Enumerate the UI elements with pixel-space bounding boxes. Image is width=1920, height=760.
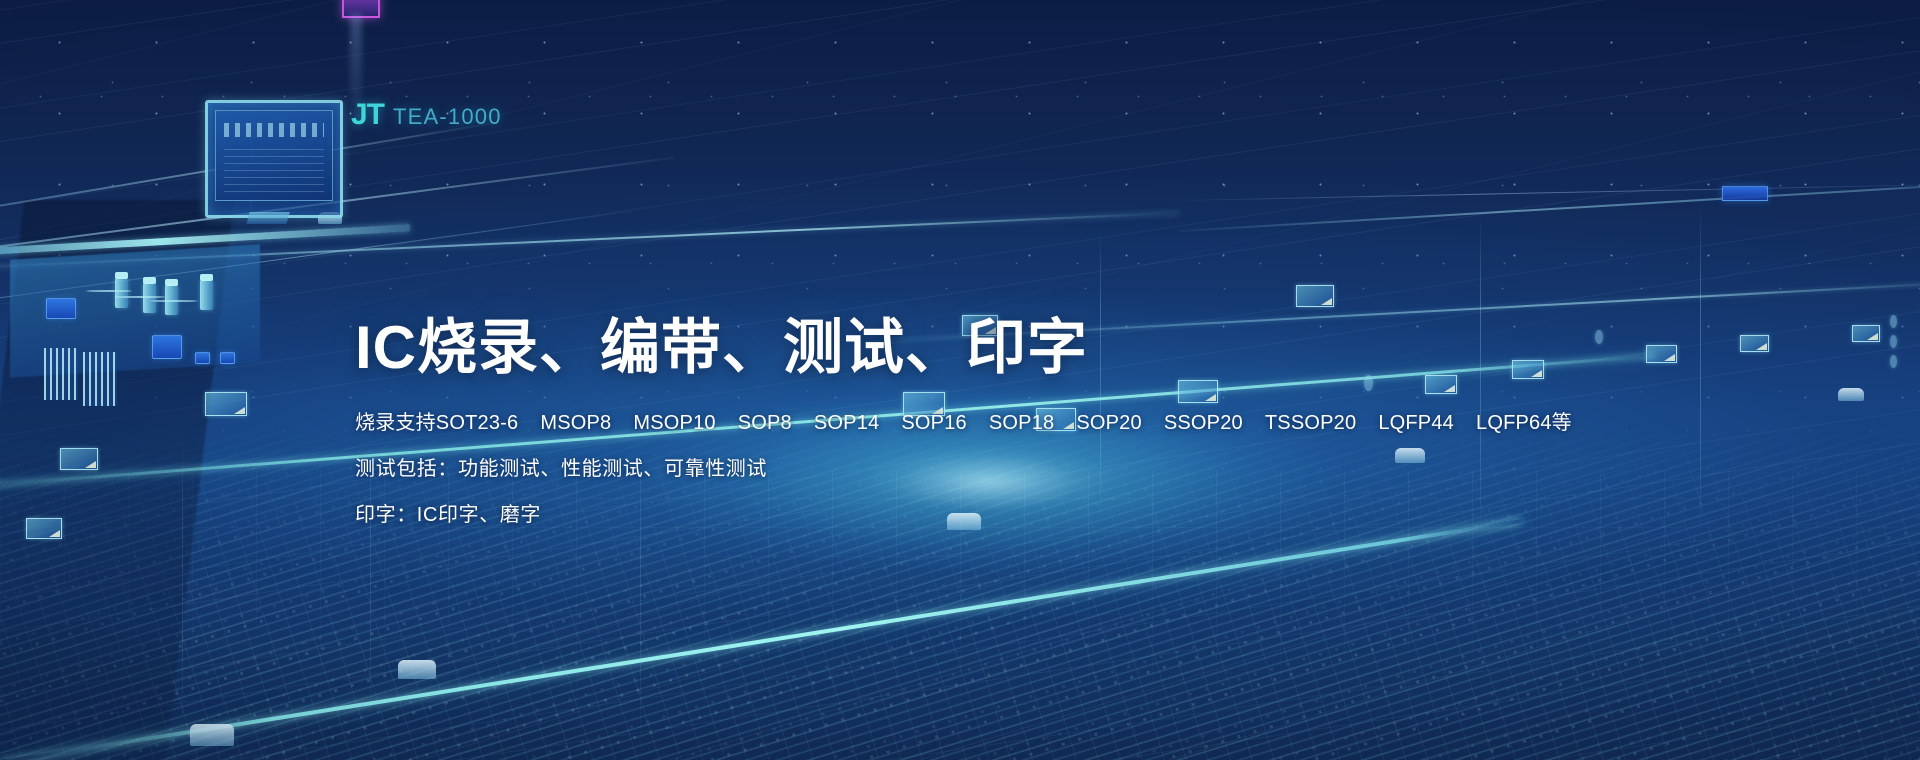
monitor-scanlines: [224, 145, 324, 192]
column-divider-3: [1700, 205, 1701, 535]
pill-sprite: [1890, 315, 1897, 328]
badge-brand-mark: JT: [351, 100, 384, 130]
rail-upper-right: [1180, 181, 1920, 232]
column-divider-5: [182, 430, 183, 750]
monitor-display-area: [215, 110, 333, 201]
chip-sprite: [1852, 325, 1880, 342]
pneumatic-cylinder-cap: [143, 277, 156, 284]
package-label: LQFP44: [1378, 412, 1454, 434]
package-label: SOP16: [901, 412, 966, 434]
package-label: SSOP20: [1164, 412, 1243, 434]
hero-copy-block: IC烧录、编带、测试、印字 烧录支持SOT23-6MSOP8MSOP10SOP8…: [355, 316, 1572, 525]
chip-sprite: [26, 518, 62, 539]
chip-sprite: [1296, 285, 1334, 307]
page-title: IC烧录、编带、测试、印字: [355, 316, 1572, 381]
burn-support-prefix: 烧录支持SOT23-6: [355, 412, 518, 434]
monitor-chip-row: [224, 123, 324, 137]
pneumatic-cylinder-cap: [115, 272, 128, 279]
pill-sprite: [1890, 335, 1897, 348]
heatsink-fins: [83, 352, 117, 406]
package-label: TSSOP20: [1265, 412, 1356, 434]
chip-sprite: [1740, 335, 1769, 352]
clamp-sprite: [1838, 388, 1864, 401]
pneumatic-cylinder-cap: [165, 279, 178, 286]
far-right-device: [1722, 186, 1768, 201]
pneumatic-cylinder: [115, 278, 128, 308]
test-scope-line: 测试包括：功能测试、性能测试、可靠性测试: [355, 459, 1572, 479]
machine-badge: JT TEA-1000: [351, 100, 502, 130]
air-tube: [86, 290, 132, 292]
air-tube: [114, 296, 166, 298]
pneumatic-cylinder-cap: [200, 274, 213, 281]
package-label: SOP20: [1076, 412, 1141, 434]
pill-sprite: [1595, 330, 1603, 344]
pneumatic-cylinder: [143, 283, 156, 313]
package-label: LQFP64等: [1476, 412, 1572, 434]
package-label: SOP18: [989, 412, 1054, 434]
rail-top-thin: [1180, 184, 1920, 201]
hero-banner: JT TEA-1000 IC烧录、编带、测试、印字 烧录支持SOT23-6MSO…: [0, 0, 1920, 760]
chip-sprite: [205, 392, 247, 416]
burn-support-line: 烧录支持SOT23-6MSOP8MSOP10SOP8SOP14SOP16SOP1…: [355, 413, 1572, 433]
chip-sprite: [1646, 345, 1677, 363]
package-label: SOP8: [738, 412, 792, 434]
package-label: MSOP8: [540, 412, 611, 434]
air-tube: [150, 300, 198, 302]
clamp-sprite: [398, 660, 436, 679]
monitor-stand: [246, 212, 289, 224]
package-label: MSOP10: [633, 412, 715, 434]
heatsink-fins: [44, 348, 78, 400]
chip-sprite: [60, 448, 98, 470]
badge-model-label: TEA-1000: [393, 106, 502, 128]
clamp-sprite: [190, 724, 234, 746]
control-module: [152, 335, 182, 359]
pneumatic-cylinder: [200, 280, 213, 310]
control-module: [195, 352, 210, 364]
monitor-screen: [205, 100, 343, 218]
package-label: SOP14: [814, 412, 879, 434]
control-module: [220, 352, 235, 364]
pill-sprite: [1890, 355, 1897, 368]
marking-scope-line: 印字：IC印字、磨字: [355, 505, 1572, 525]
hero-detail-lines: 烧录支持SOT23-6MSOP8MSOP10SOP8SOP14SOP16SOP1…: [355, 413, 1572, 525]
control-module: [46, 298, 76, 319]
